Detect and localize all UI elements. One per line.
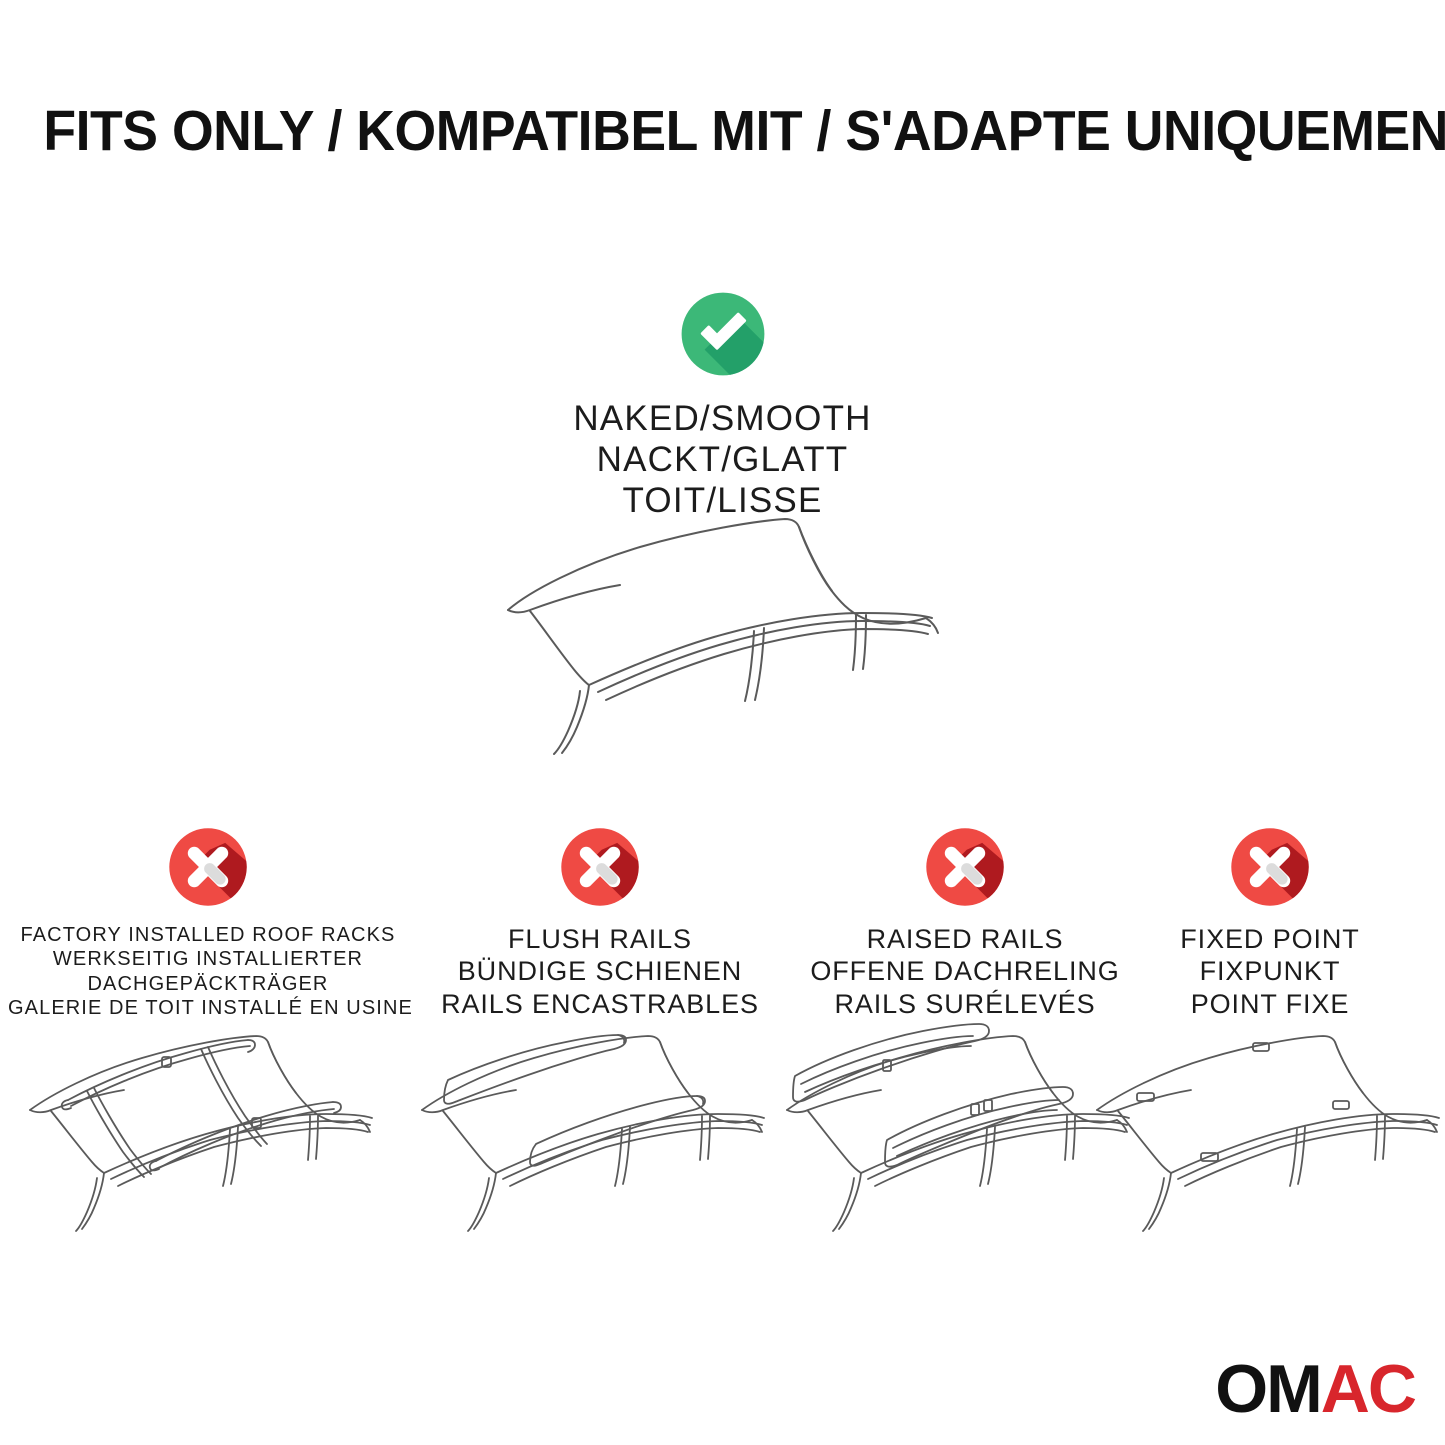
- car-roof-flush-rails-illustration: [400, 1020, 800, 1255]
- incompatible-labels: FIXED POINT FIXPUNKT POINT FIXE: [1085, 923, 1445, 1020]
- label-line-2: WERKSEITIG INSTALLIERTER: [8, 947, 408, 971]
- x-circle-icon: [1085, 824, 1445, 915]
- x-circle-icon: [8, 824, 408, 915]
- logo-text-om: OM: [1215, 1351, 1321, 1427]
- check-circle-icon: [0, 288, 1445, 385]
- car-roof-factory-rack-illustration: [8, 1020, 408, 1255]
- label-line-2: BÜNDIGE SCHIENEN: [400, 955, 800, 987]
- incompatible-item-flush-rails: FLUSH RAILS BÜNDIGE SCHIENEN RAILS ENCAS…: [400, 824, 800, 1020]
- label-line-3: DACHGEPÄCKTRÄGER: [8, 972, 408, 996]
- label-line-3: POINT FIXE: [1085, 988, 1445, 1020]
- page-title: FITS ONLY / KOMPATIBEL MIT / S'ADAPTE UN…: [43, 98, 1401, 164]
- incompatible-item-factory-installed-roof-racks: FACTORY INSTALLED ROOF RACKS WERKSEITIG …: [8, 824, 408, 1021]
- incompatible-columns: FACTORY INSTALLED ROOF RACKS WERKSEITIG …: [0, 824, 1445, 1254]
- x-circle-icon: [400, 824, 800, 915]
- fitment-info-graphic: FITS ONLY / KOMPATIBEL MIT / S'ADAPTE UN…: [0, 0, 1445, 1445]
- car-roof-naked-smooth-illustration: [470, 495, 990, 755]
- omac-logo: OMAC: [1215, 1355, 1415, 1423]
- car-roof-fixed-point-illustration: [1075, 1020, 1445, 1255]
- label-line-2: FIXPUNKT: [1085, 955, 1445, 987]
- label-line-1: FIXED POINT: [1085, 923, 1445, 955]
- label-line-4: GALERIE DE TOIT INSTALLÉ EN USINE: [8, 996, 408, 1020]
- label-line-1: FACTORY INSTALLED ROOF RACKS: [8, 923, 408, 947]
- compatible-label-en: NAKED/SMOOTH: [0, 399, 1445, 440]
- label-line-1: FLUSH RAILS: [400, 923, 800, 955]
- label-line-3: RAILS ENCASTRABLES: [400, 988, 800, 1020]
- compatible-block: NAKED/SMOOTH NACKT/GLATT TOIT/LISSE: [0, 288, 1445, 522]
- logo-text-ac: AC: [1321, 1351, 1415, 1427]
- incompatible-labels: FACTORY INSTALLED ROOF RACKS WERKSEITIG …: [8, 923, 408, 1021]
- incompatible-item-fixed-point: FIXED POINT FIXPUNKT POINT FIXE: [1085, 824, 1445, 1020]
- compatible-label-de: NACKT/GLATT: [0, 440, 1445, 481]
- incompatible-labels: FLUSH RAILS BÜNDIGE SCHIENEN RAILS ENCAS…: [400, 923, 800, 1020]
